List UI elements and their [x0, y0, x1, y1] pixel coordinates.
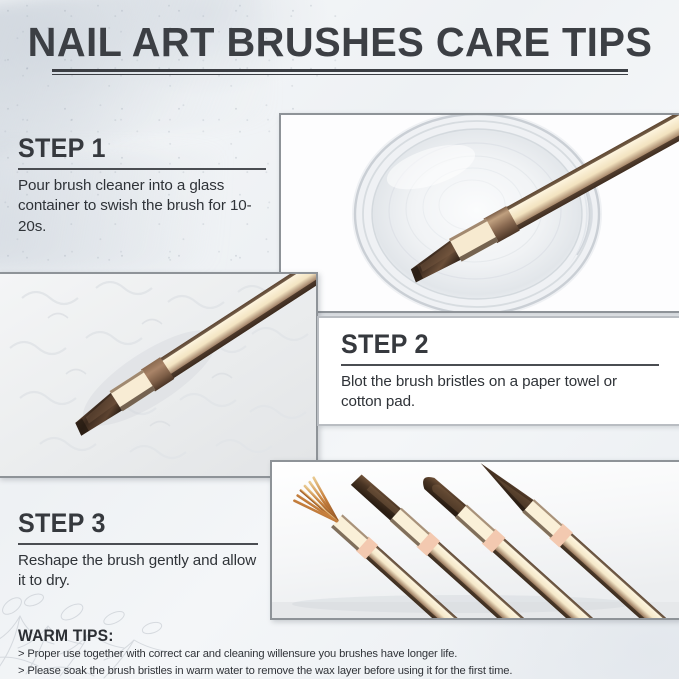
step-2-card: STEP 2 Blot the brush bristles on a pape… — [317, 316, 679, 426]
step-3-body: Reshape the brush gently and allow it to… — [18, 551, 258, 592]
step-3-heading: STEP 3 — [18, 509, 241, 537]
title-rule-thick — [52, 69, 628, 72]
photo-panel-glass-bowl — [279, 113, 679, 313]
brush-set-lineup-image — [272, 462, 679, 618]
warm-tip-line: > Please soak the brush bristles in warm… — [18, 663, 668, 679]
photo-panel-paper-towel — [0, 272, 318, 478]
warm-tips-block: WARM TIPS: > Proper use together with co… — [18, 626, 668, 679]
step-1-heading: STEP 1 — [18, 134, 249, 162]
step-2-heading: STEP 2 — [341, 330, 637, 358]
warm-tips-title: WARM TIPS: — [18, 626, 616, 646]
step-2-body: Blot the brush bristles on a paper towel… — [341, 372, 659, 413]
step-3-block: STEP 3 Reshape the brush gently and allo… — [18, 509, 258, 592]
glass-bowl-with-brush-image — [281, 115, 679, 311]
title-underline — [52, 69, 628, 75]
step-1-rule — [18, 168, 266, 170]
photo-panel-brush-set — [270, 460, 679, 620]
step-1-body: Pour brush cleaner into a glass containe… — [18, 176, 266, 237]
page-title-block: NAIL ART BRUSHES CARE TIPS — [0, 22, 679, 75]
brush-on-paper-towel-image — [0, 274, 316, 476]
step-1-block: STEP 1 Pour brush cleaner into a glass c… — [18, 134, 266, 237]
step-3-rule — [18, 543, 258, 545]
step-2-block: STEP 2 Blot the brush bristles on a pape… — [341, 330, 659, 413]
title-rule-thin — [52, 74, 628, 75]
page-title: NAIL ART BRUSHES CARE TIPS — [27, 22, 652, 64]
warm-tip-line: > Proper use together with correct car a… — [18, 646, 668, 663]
step-2-rule — [341, 364, 659, 366]
